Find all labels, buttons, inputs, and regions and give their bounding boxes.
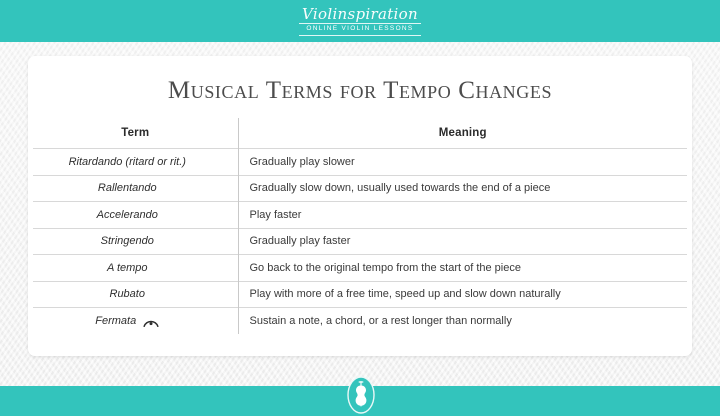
column-header-meaning: Meaning <box>238 118 687 149</box>
cell-term: Rubato <box>33 281 238 308</box>
cell-meaning: Go back to the original tempo from the s… <box>238 255 687 282</box>
tempo-terms-table: Term Meaning Ritardando (ritard or rit.)… <box>33 118 687 334</box>
term-label: Rallentando <box>98 182 157 194</box>
cell-meaning: Gradually slow down, usually used toward… <box>238 175 687 202</box>
violin-badge-icon <box>345 374 377 416</box>
page-title: Musical Terms for Tempo Changes <box>28 56 692 103</box>
term-label: Ritardando (ritard or rit.) <box>69 156 186 168</box>
cell-meaning: Sustain a note, a chord, or a rest longe… <box>238 308 687 335</box>
term-label: Stringendo <box>101 235 154 247</box>
page-root: Violinspiration Online Violin Lessons Mu… <box>0 0 720 416</box>
table-row: Accelerando Play faster <box>33 202 687 229</box>
term-inner: Stringendo <box>101 235 154 247</box>
content-card: Musical Terms for Tempo Changes Term Mea… <box>28 56 692 356</box>
cell-term: Ritardando (ritard or rit.) <box>33 149 238 176</box>
term-label: A tempo <box>107 262 148 274</box>
top-teal-bar <box>0 0 720 42</box>
table-row: Fermata Sustain a note, a chord, or a re… <box>33 308 687 335</box>
term-inner: Fermata <box>95 315 159 327</box>
cell-term: Rallentando <box>33 175 238 202</box>
column-header-term: Term <box>33 118 238 149</box>
table-body: Ritardando (ritard or rit.) Gradually pl… <box>33 149 687 335</box>
cell-meaning: Gradually play slower <box>238 149 687 176</box>
table-row: Rallentando Gradually slow down, usually… <box>33 175 687 202</box>
term-inner: Rubato <box>110 288 145 300</box>
cell-term: Accelerando <box>33 202 238 229</box>
table-header-row: Term Meaning <box>33 118 687 149</box>
term-inner: A tempo <box>107 262 148 274</box>
table-row: Rubato Play with more of a free time, sp… <box>33 281 687 308</box>
cell-term: A tempo <box>33 255 238 282</box>
cell-meaning: Play faster <box>238 202 687 229</box>
table-head: Term Meaning <box>33 118 687 149</box>
term-label: Fermata <box>95 315 136 327</box>
fermata-symbol-icon <box>143 316 159 327</box>
term-label: Rubato <box>110 288 145 300</box>
cell-meaning: Gradually play faster <box>238 228 687 255</box>
term-inner: Rallentando <box>98 182 157 194</box>
table-row: A tempo Go back to the original tempo fr… <box>33 255 687 282</box>
cell-meaning: Play with more of a free time, speed up … <box>238 281 687 308</box>
term-label: Accelerando <box>97 209 158 221</box>
term-inner: Ritardando (ritard or rit.) <box>69 156 186 168</box>
term-inner: Accelerando <box>97 209 158 221</box>
cell-term: Stringendo <box>33 228 238 255</box>
cell-term: Fermata <box>33 308 238 335</box>
table-row: Ritardando (ritard or rit.) Gradually pl… <box>33 149 687 176</box>
table-row: Stringendo Gradually play faster <box>33 228 687 255</box>
